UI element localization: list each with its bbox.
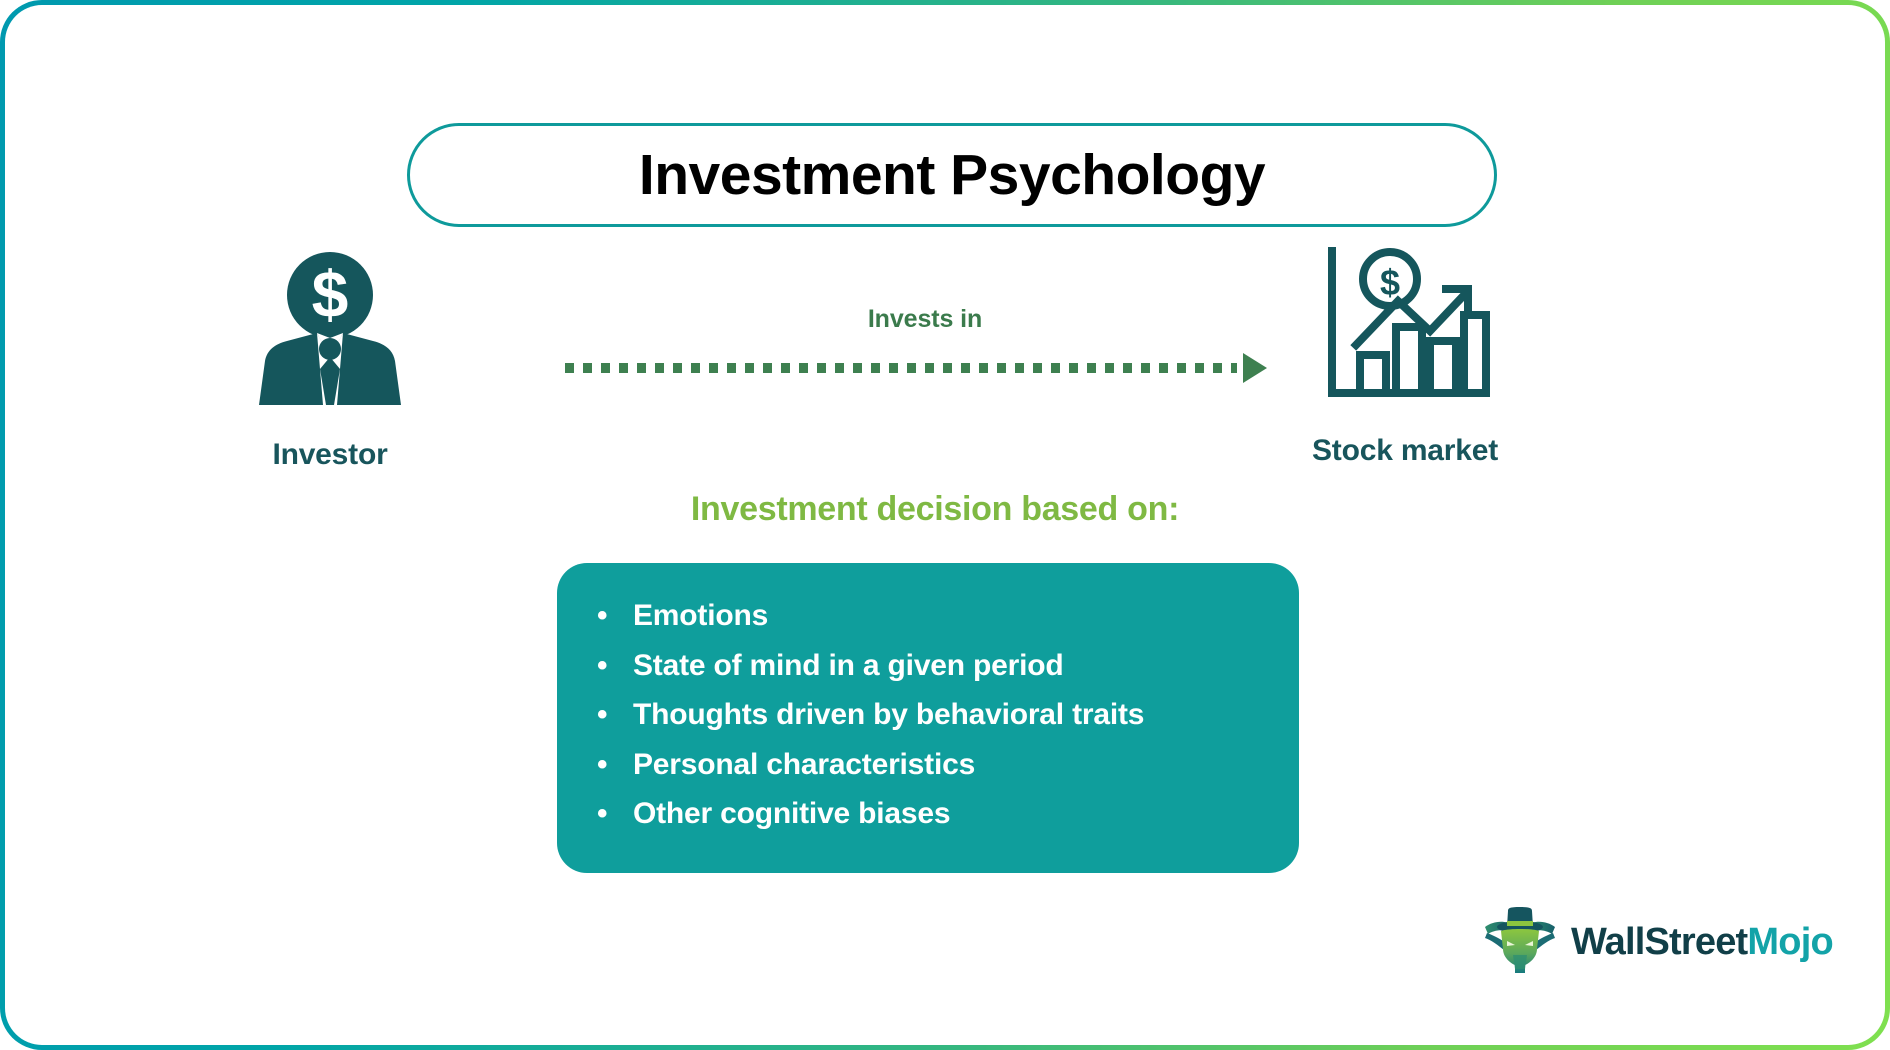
page-title: Investment Psychology (639, 142, 1265, 208)
svg-text:$: $ (1379, 262, 1399, 303)
bullet-icon: • (597, 750, 633, 780)
list-item-label: Other cognitive biases (633, 797, 950, 831)
investor-label: Investor (272, 438, 387, 472)
list-item: • Personal characteristics (597, 748, 1259, 782)
list-item-label: Emotions (633, 599, 768, 633)
brand-name-primary: WallStreet (1571, 921, 1747, 963)
list-item-label: Personal characteristics (633, 748, 975, 782)
stock-market-bar-chart-icon: $ (1318, 243, 1493, 416)
list-item: • Emotions (597, 599, 1259, 633)
infographic-canvas: Investment Psychology $ (5, 5, 1885, 1045)
list-item: • Thoughts driven by behavioral traits (597, 698, 1259, 732)
connector-label: Invests in (565, 305, 1285, 334)
list-item-label: Thoughts driven by behavioral traits (633, 698, 1144, 732)
list-item-label: State of mind in a given period (633, 649, 1064, 683)
stock-market-label: Stock market (1312, 434, 1498, 468)
bullet-icon: • (597, 601, 633, 631)
investor-dollar-head-icon: $ (245, 245, 415, 420)
infographic-frame: Investment Psychology $ (0, 0, 1890, 1050)
invests-in-connector: Invests in (565, 305, 1285, 395)
decision-factors-list: • Emotions • State of mind in a given pe… (597, 599, 1259, 831)
brand-wordmark: WallStreetMojo (1571, 921, 1833, 964)
arrow-right-icon (1243, 353, 1267, 383)
bullet-icon: • (597, 700, 633, 730)
decision-heading: Investment decision based on: (565, 490, 1305, 529)
stock-market-node: $ Stock market (1255, 243, 1555, 468)
investor-node: $ Investor (210, 245, 450, 472)
list-item: • Other cognitive biases (597, 797, 1259, 831)
svg-text:$: $ (312, 257, 349, 331)
bullet-icon: • (597, 799, 633, 829)
bull-with-top-hat-logo-icon (1483, 905, 1557, 980)
bullet-icon: • (597, 651, 633, 681)
brand-name-secondary: Mojo (1747, 921, 1832, 963)
decision-factors-box: • Emotions • State of mind in a given pe… (557, 563, 1299, 873)
brand-logo: WallStreetMojo (1483, 905, 1833, 980)
dotted-line (565, 363, 1237, 373)
list-item: • State of mind in a given period (597, 649, 1259, 683)
title-pill: Investment Psychology (407, 123, 1497, 227)
